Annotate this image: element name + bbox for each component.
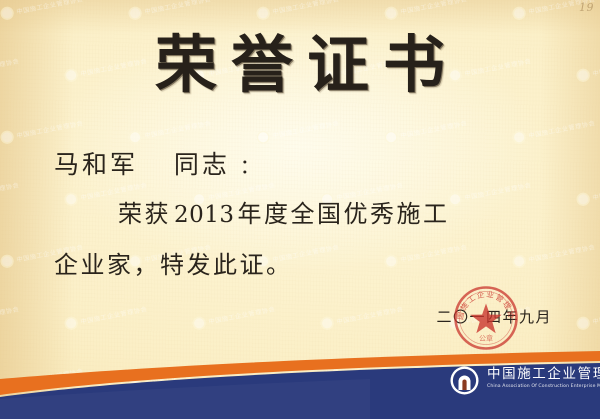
footer-banner: 中国施工企业管理协会 China Association Of Construc… <box>0 343 600 419</box>
award-prefix: 荣获 <box>118 200 171 228</box>
seal-star-icon <box>470 304 501 334</box>
recipient-honorific: 同志 <box>174 150 230 179</box>
recipient-name: 马和军 <box>54 150 138 179</box>
award-year: 2013 <box>171 202 238 228</box>
title-block: 荣誉证书 <box>0 34 600 96</box>
svg-text:公章: 公章 <box>479 334 493 343</box>
certificate-document: 中国施工企业管理协会中国施工企业管理协会中国施工企业管理协会中国施工企业管理协会… <box>0 0 600 419</box>
association-emblem-icon <box>449 365 480 396</box>
footer-org-name: 中国施工企业管理协会 <box>487 366 600 382</box>
award-suffix: 年度全国优秀施工 <box>238 200 450 228</box>
footer-org-name-en: China Association Of Construction Enterp… <box>487 384 600 389</box>
salutation-colon: ： <box>240 154 262 178</box>
certificate-body: 马和军 同志 ： 荣获2013年度全国优秀施工 企业家，特发此证。 <box>0 142 600 290</box>
award-line-1: 荣获2013年度全国优秀施工 <box>118 189 600 240</box>
official-seal-stamp: 中国施工企业管理协会 公章 <box>452 284 520 352</box>
page-number-mark: 19 <box>579 1 594 14</box>
salutation-line: 马和军 同志 ： <box>54 142 600 189</box>
certificate-title: 荣誉证书 <box>141 34 459 96</box>
award-line-2: 企业家，特发此证。 <box>54 240 600 290</box>
